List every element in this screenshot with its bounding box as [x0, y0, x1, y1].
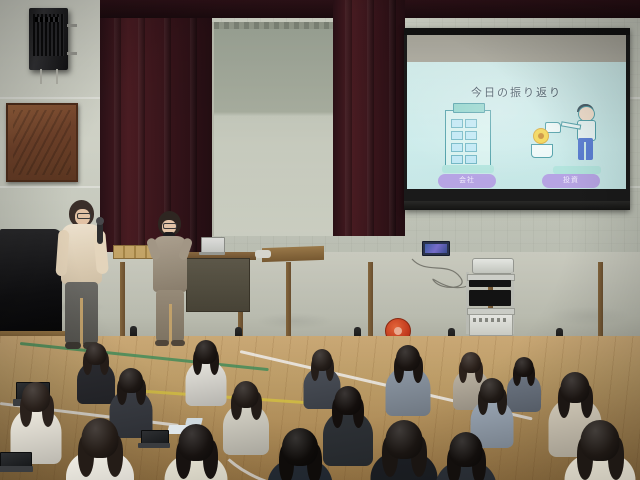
audience-member-head	[581, 420, 620, 461]
speaker-leg	[56, 69, 58, 84]
laptop-base	[199, 252, 225, 255]
presenter-2-trousers	[156, 290, 184, 342]
av-equipment-cart	[463, 258, 517, 340]
side-table	[262, 246, 324, 262]
audience-member-head	[480, 378, 504, 403]
flower-pot-icon	[531, 144, 553, 158]
slide-title: 今日の振り返り	[407, 84, 626, 100]
audience-member-head	[119, 368, 143, 393]
wooden-wall-plaque	[6, 103, 78, 182]
curtain-fold	[367, 0, 374, 236]
audience-member-head	[312, 349, 332, 371]
projector	[472, 258, 514, 274]
presenter-2-foot	[155, 340, 169, 346]
laptop-base	[0, 466, 33, 472]
sunflower-icon	[533, 128, 549, 144]
stage-panel-seam	[120, 262, 125, 344]
building-window	[451, 119, 463, 128]
building-window	[465, 131, 477, 140]
speaker-bracket	[67, 52, 77, 55]
audience-member-torso	[223, 403, 269, 455]
building-sign	[453, 103, 485, 113]
audience-member-torso	[386, 366, 431, 416]
audience-member-head	[515, 357, 534, 377]
screen-gray-band	[407, 35, 626, 65]
audience-member-head	[195, 340, 217, 364]
curtain-fold	[190, 0, 197, 252]
speaker-leg	[40, 69, 42, 84]
person-watering-plant-icon	[571, 106, 601, 166]
covered-upright-piano	[0, 229, 62, 337]
laptop-on-podium[interactable]	[199, 237, 225, 255]
curtain-fold	[114, 0, 121, 252]
photo-scene: 今日の振り返り 会社	[0, 0, 640, 480]
cart-unit-label	[473, 318, 509, 322]
stage-panel-seam	[368, 262, 373, 344]
cart-device	[469, 290, 511, 306]
figure-legs	[578, 138, 593, 160]
building-door	[451, 155, 463, 164]
company-illustration	[415, 106, 519, 172]
audience-member-head	[86, 343, 107, 365]
wall-speaker	[29, 8, 68, 70]
audience-member-head	[22, 382, 50, 412]
audience-member-head	[82, 418, 119, 458]
building-door	[465, 155, 477, 164]
presentation-slide: 今日の振り返り 会社	[407, 62, 626, 189]
badge-investment: 投資	[542, 174, 600, 188]
building-window	[451, 131, 463, 140]
audience-member-torso	[186, 360, 227, 406]
building-window	[465, 119, 477, 128]
glasses-icon	[77, 213, 91, 219]
audience-member-torso	[323, 410, 373, 466]
audience-member-head	[561, 372, 590, 403]
slide-column-investment: 投資 投資って野菜作りみたい！時間をかけてお金を増やすこと。会社が成長すれば利益…	[519, 106, 623, 189]
cart-device	[469, 280, 511, 287]
screen-top-bar	[404, 28, 630, 35]
curtain-fold	[345, 0, 352, 236]
screen-bottom-bar	[404, 201, 630, 210]
audience-member-head	[396, 345, 420, 371]
speaker-vents	[35, 17, 59, 22]
presenter-1-trousers	[65, 282, 98, 344]
audience-member-head	[461, 352, 481, 373]
laptop-base	[138, 443, 170, 448]
curtain-fold	[389, 0, 396, 236]
illustration-pedestal	[442, 165, 494, 173]
audience-member-head	[282, 428, 318, 466]
building-window	[465, 143, 477, 152]
cart-white-unit	[469, 314, 513, 336]
audience-member-torso	[507, 373, 541, 412]
audience-member-head	[386, 420, 423, 459]
floor-laptop-mid[interactable]	[141, 430, 167, 448]
microphone[interactable]	[97, 222, 103, 244]
stage-object-box	[255, 250, 271, 258]
office-building-icon	[445, 110, 491, 168]
panel-ridge	[214, 22, 336, 29]
curtain-fold	[138, 0, 145, 252]
podium	[186, 258, 250, 312]
audience-member-head	[335, 386, 362, 415]
investment-illustration	[519, 106, 623, 172]
stage-curtain-right	[333, 0, 405, 236]
illustration-pedestal	[553, 166, 601, 174]
glasses-icon	[163, 223, 177, 229]
slide-column-company: 会社 色々な方法でお金を集めて、みんなの生活や社会を豊かにするための商品やサービ…	[415, 106, 519, 189]
stage-back-panel	[212, 22, 338, 236]
blue-screen-device[interactable]	[422, 241, 450, 256]
stage-panel-seam	[286, 262, 291, 344]
speaker-bracket	[67, 24, 77, 27]
audience-member-head	[234, 381, 259, 408]
presenter-1-foot	[65, 342, 81, 349]
building-window	[451, 143, 463, 152]
audience-member-head	[179, 424, 214, 461]
audience-member-head	[450, 432, 483, 467]
presenter-2-foot	[171, 340, 185, 346]
stage-panel-seam	[598, 262, 603, 344]
badge-company: 会社	[438, 174, 496, 188]
projection-screen: 今日の振り返り 会社	[404, 28, 630, 210]
stage-curtain-left	[100, 0, 212, 252]
floor-laptop-front[interactable]	[0, 452, 30, 472]
